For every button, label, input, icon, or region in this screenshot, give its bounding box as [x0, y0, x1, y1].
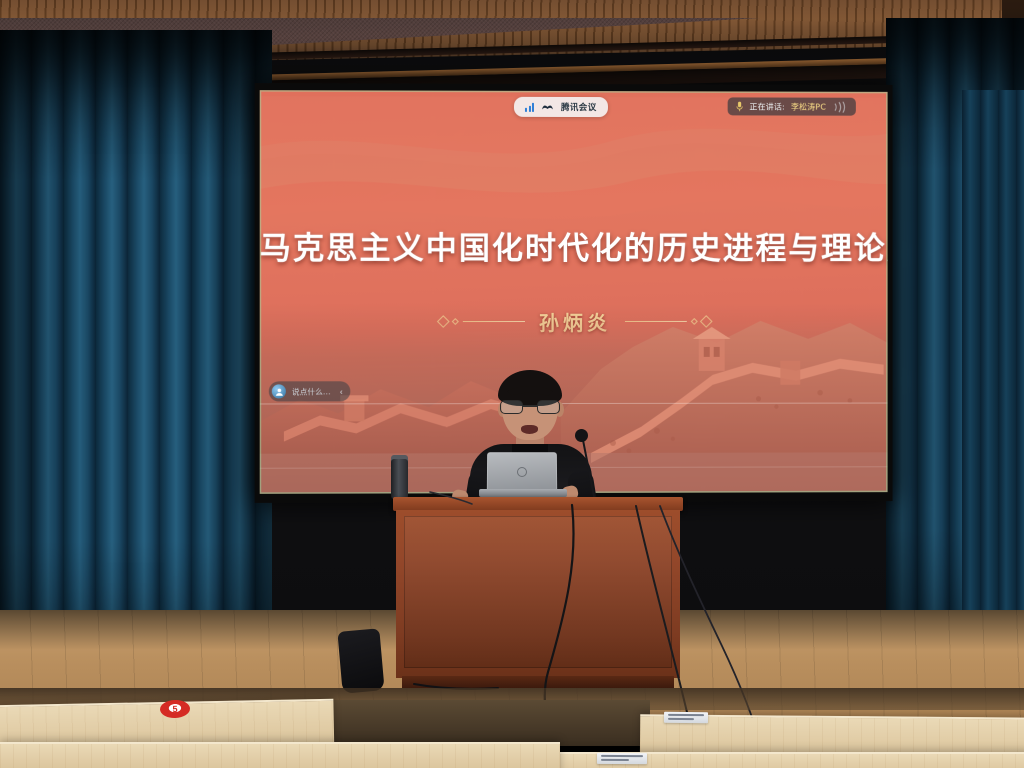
laptop-base — [479, 489, 567, 497]
slide-title: 马克思主义中国化时代化的历史进程与理论成果 — [260, 223, 888, 268]
speaking-status-badge: 正在讲话: 李松涛PC — [728, 97, 856, 115]
stage-curtain-far-right — [962, 90, 1024, 690]
lecture-hall-photo: 马克思主义中国化时代化的历史进程与理论成果 孙炳炎 — [0, 0, 1024, 768]
podium-kickplate — [402, 676, 674, 688]
eyeglasses-icon — [499, 400, 561, 415]
audience-table-front-left — [0, 742, 560, 768]
presenter-mouth — [521, 425, 538, 434]
audio-wave-icon — [832, 101, 848, 112]
desk-label-center — [597, 753, 647, 764]
podium-desk — [396, 510, 680, 678]
speaking-name: 李松涛PC — [791, 101, 826, 112]
speaking-prefix: 正在讲话: — [749, 101, 785, 112]
chat-input-bar[interactable]: 说点什么... ‹ — [269, 381, 351, 401]
thermos-bottle-icon — [391, 459, 408, 499]
dell-laptop-icon — [487, 452, 557, 492]
user-avatar-icon — [272, 384, 286, 398]
desk-label-right — [664, 712, 708, 723]
dell-logo-icon — [517, 467, 527, 477]
chat-input-placeholder: 说点什么... — [292, 386, 331, 397]
seat-number: 5 — [172, 704, 177, 714]
microphone-icon — [735, 100, 743, 112]
tencent-meeting-pill[interactable]: 腾讯会议 — [514, 97, 608, 117]
backpack-icon — [337, 628, 384, 693]
signal-bars-icon — [525, 102, 534, 111]
meeting-pill-label: 腾讯会议 — [561, 101, 597, 113]
gooseneck-microphone-icon — [575, 429, 588, 442]
table-gap-shadow — [330, 700, 650, 746]
tencent-meeting-logo-icon — [541, 102, 554, 111]
podium-top — [393, 497, 683, 511]
chevron-left-icon[interactable]: ‹ — [337, 387, 346, 396]
